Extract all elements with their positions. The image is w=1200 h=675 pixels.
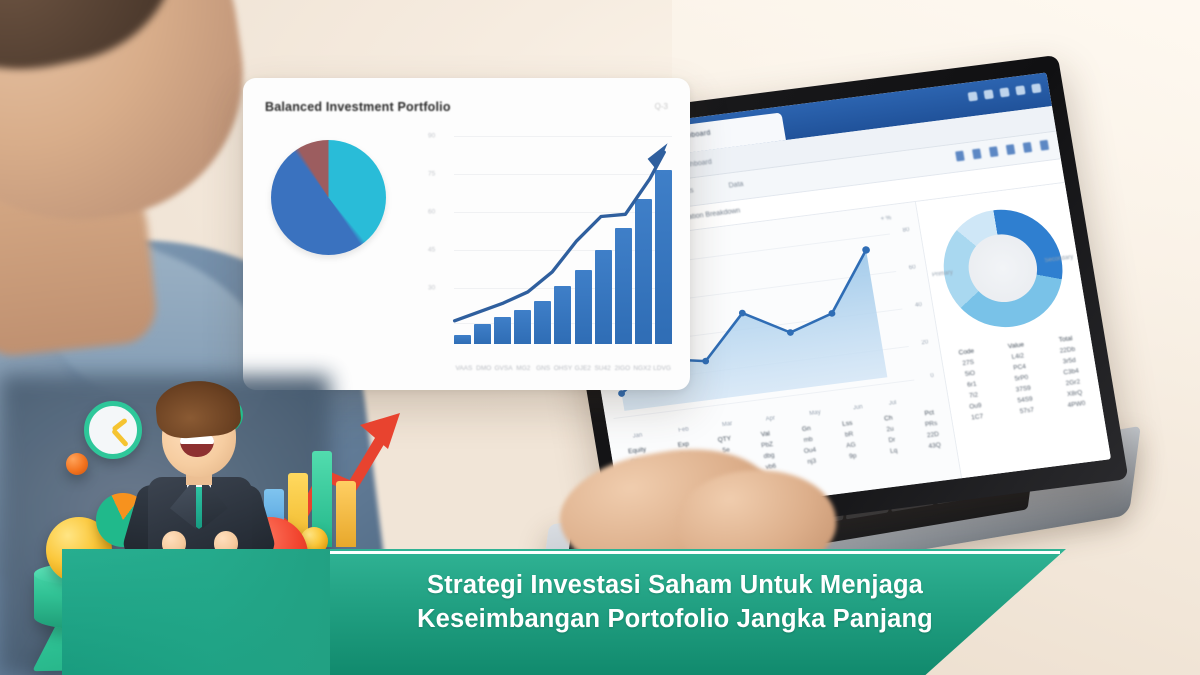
bar bbox=[635, 199, 652, 344]
bar-y-tick: 30 bbox=[428, 285, 435, 292]
bar-x-tick: MG2 bbox=[513, 365, 533, 372]
analytics-card: Balanced Investment Portfolio Q-3 90 75 … bbox=[243, 78, 690, 390]
character-hair bbox=[154, 377, 243, 440]
area-x-tick: Feb bbox=[678, 427, 689, 434]
area-x-tick: May bbox=[809, 410, 821, 417]
bar-x-tick: OHSY bbox=[553, 365, 573, 372]
maximize-icon[interactable] bbox=[983, 89, 993, 99]
bar-x-tick: GVSA bbox=[494, 365, 514, 372]
bar-x-tick: VAAS bbox=[454, 365, 474, 372]
bar-y-tick: 60 bbox=[428, 209, 435, 216]
area-y-tick: 0 bbox=[930, 373, 934, 379]
banner-title-line-2: Keseimbangan Portofolio Jangka Panjang bbox=[330, 603, 1020, 637]
bar bbox=[615, 228, 632, 344]
area-x-tick: Mar bbox=[722, 421, 733, 428]
bar bbox=[655, 170, 672, 344]
bar bbox=[575, 270, 592, 344]
bar-x-tick: DMO bbox=[474, 365, 494, 372]
bar-x-tick: GNS bbox=[533, 365, 553, 372]
area-x-tick: Apr bbox=[765, 416, 775, 423]
dashboard-table-right: Code Value Total 27S L4i2 22Db 5iO PC4 3… bbox=[941, 331, 1103, 426]
bar-chart-x-axis: VAAS DMO GVSA MG2 GNS OHSY GJE2 SU42 2IG… bbox=[454, 365, 672, 372]
area-x-tick: Jun bbox=[853, 404, 864, 411]
area-y-tick: 80 bbox=[902, 227, 910, 234]
profile-icon[interactable] bbox=[1031, 83, 1041, 93]
area-y-tick: 60 bbox=[909, 265, 917, 272]
bar bbox=[514, 310, 531, 344]
bar-x-tick: NGX2 bbox=[632, 365, 652, 372]
share-icon[interactable] bbox=[1023, 142, 1033, 153]
bar bbox=[595, 250, 612, 344]
banner-title-line-1: Strategi Investasi Saham Untuk Menjaga bbox=[330, 569, 1020, 603]
export-icon[interactable] bbox=[1006, 144, 1016, 155]
chart-icon[interactable] bbox=[955, 151, 965, 162]
area-y-tick: 40 bbox=[915, 302, 923, 309]
bar-y-tick: 45 bbox=[428, 247, 435, 254]
analytics-card-corner-label: Q-3 bbox=[655, 102, 668, 111]
area-y-tick: 20 bbox=[921, 339, 929, 346]
bar-x-tick: GJE2 bbox=[573, 365, 593, 372]
donut-chart-ring bbox=[935, 203, 1072, 334]
screenshot-stage: Portal Dashboard https://analytics.fina bbox=[0, 0, 1200, 675]
bar bbox=[554, 286, 571, 344]
bar-x-tick: LDVG bbox=[652, 365, 672, 372]
banner-top-rule bbox=[330, 551, 1060, 554]
close-icon[interactable] bbox=[999, 87, 1009, 97]
banner-title: Strategi Investasi Saham Untuk Menjaga K… bbox=[330, 569, 1020, 636]
bar-chart-plot bbox=[454, 130, 672, 344]
bar-y-tick: 90 bbox=[428, 133, 435, 140]
window-controls[interactable] bbox=[968, 83, 1042, 101]
toolbar-icon-group bbox=[955, 140, 1049, 162]
pie-chart bbox=[271, 140, 386, 255]
donut-pointer bbox=[998, 247, 1004, 269]
donut-chart bbox=[935, 203, 1072, 334]
bar-x-tick: SU42 bbox=[593, 365, 613, 372]
analytics-card-title: Balanced Investment Portfolio bbox=[265, 100, 670, 114]
banner-left-overlay bbox=[62, 549, 330, 675]
menu-icon[interactable] bbox=[1015, 85, 1025, 95]
bar-y-tick: 75 bbox=[428, 171, 435, 178]
bar bbox=[474, 324, 491, 344]
filter-icon[interactable] bbox=[972, 148, 982, 159]
bar-chart: 90 75 60 45 30 bbox=[428, 130, 672, 344]
mini-bar bbox=[336, 481, 356, 547]
minimize-icon[interactable] bbox=[968, 91, 978, 101]
bar bbox=[534, 301, 551, 344]
bar bbox=[494, 317, 511, 344]
bar bbox=[454, 335, 471, 344]
bar-x-tick: 2IGO bbox=[613, 365, 633, 372]
area-x-tick: Jan bbox=[632, 433, 643, 440]
area-x-tick: Jul bbox=[888, 400, 897, 407]
orange-dot-icon bbox=[66, 453, 88, 475]
toolbar-item-data[interactable]: Data bbox=[728, 181, 744, 190]
sort-icon[interactable] bbox=[989, 146, 999, 157]
settings-icon[interactable] bbox=[1040, 140, 1050, 151]
title-banner: Strategi Investasi Saham Untuk Menjaga K… bbox=[62, 549, 1066, 675]
